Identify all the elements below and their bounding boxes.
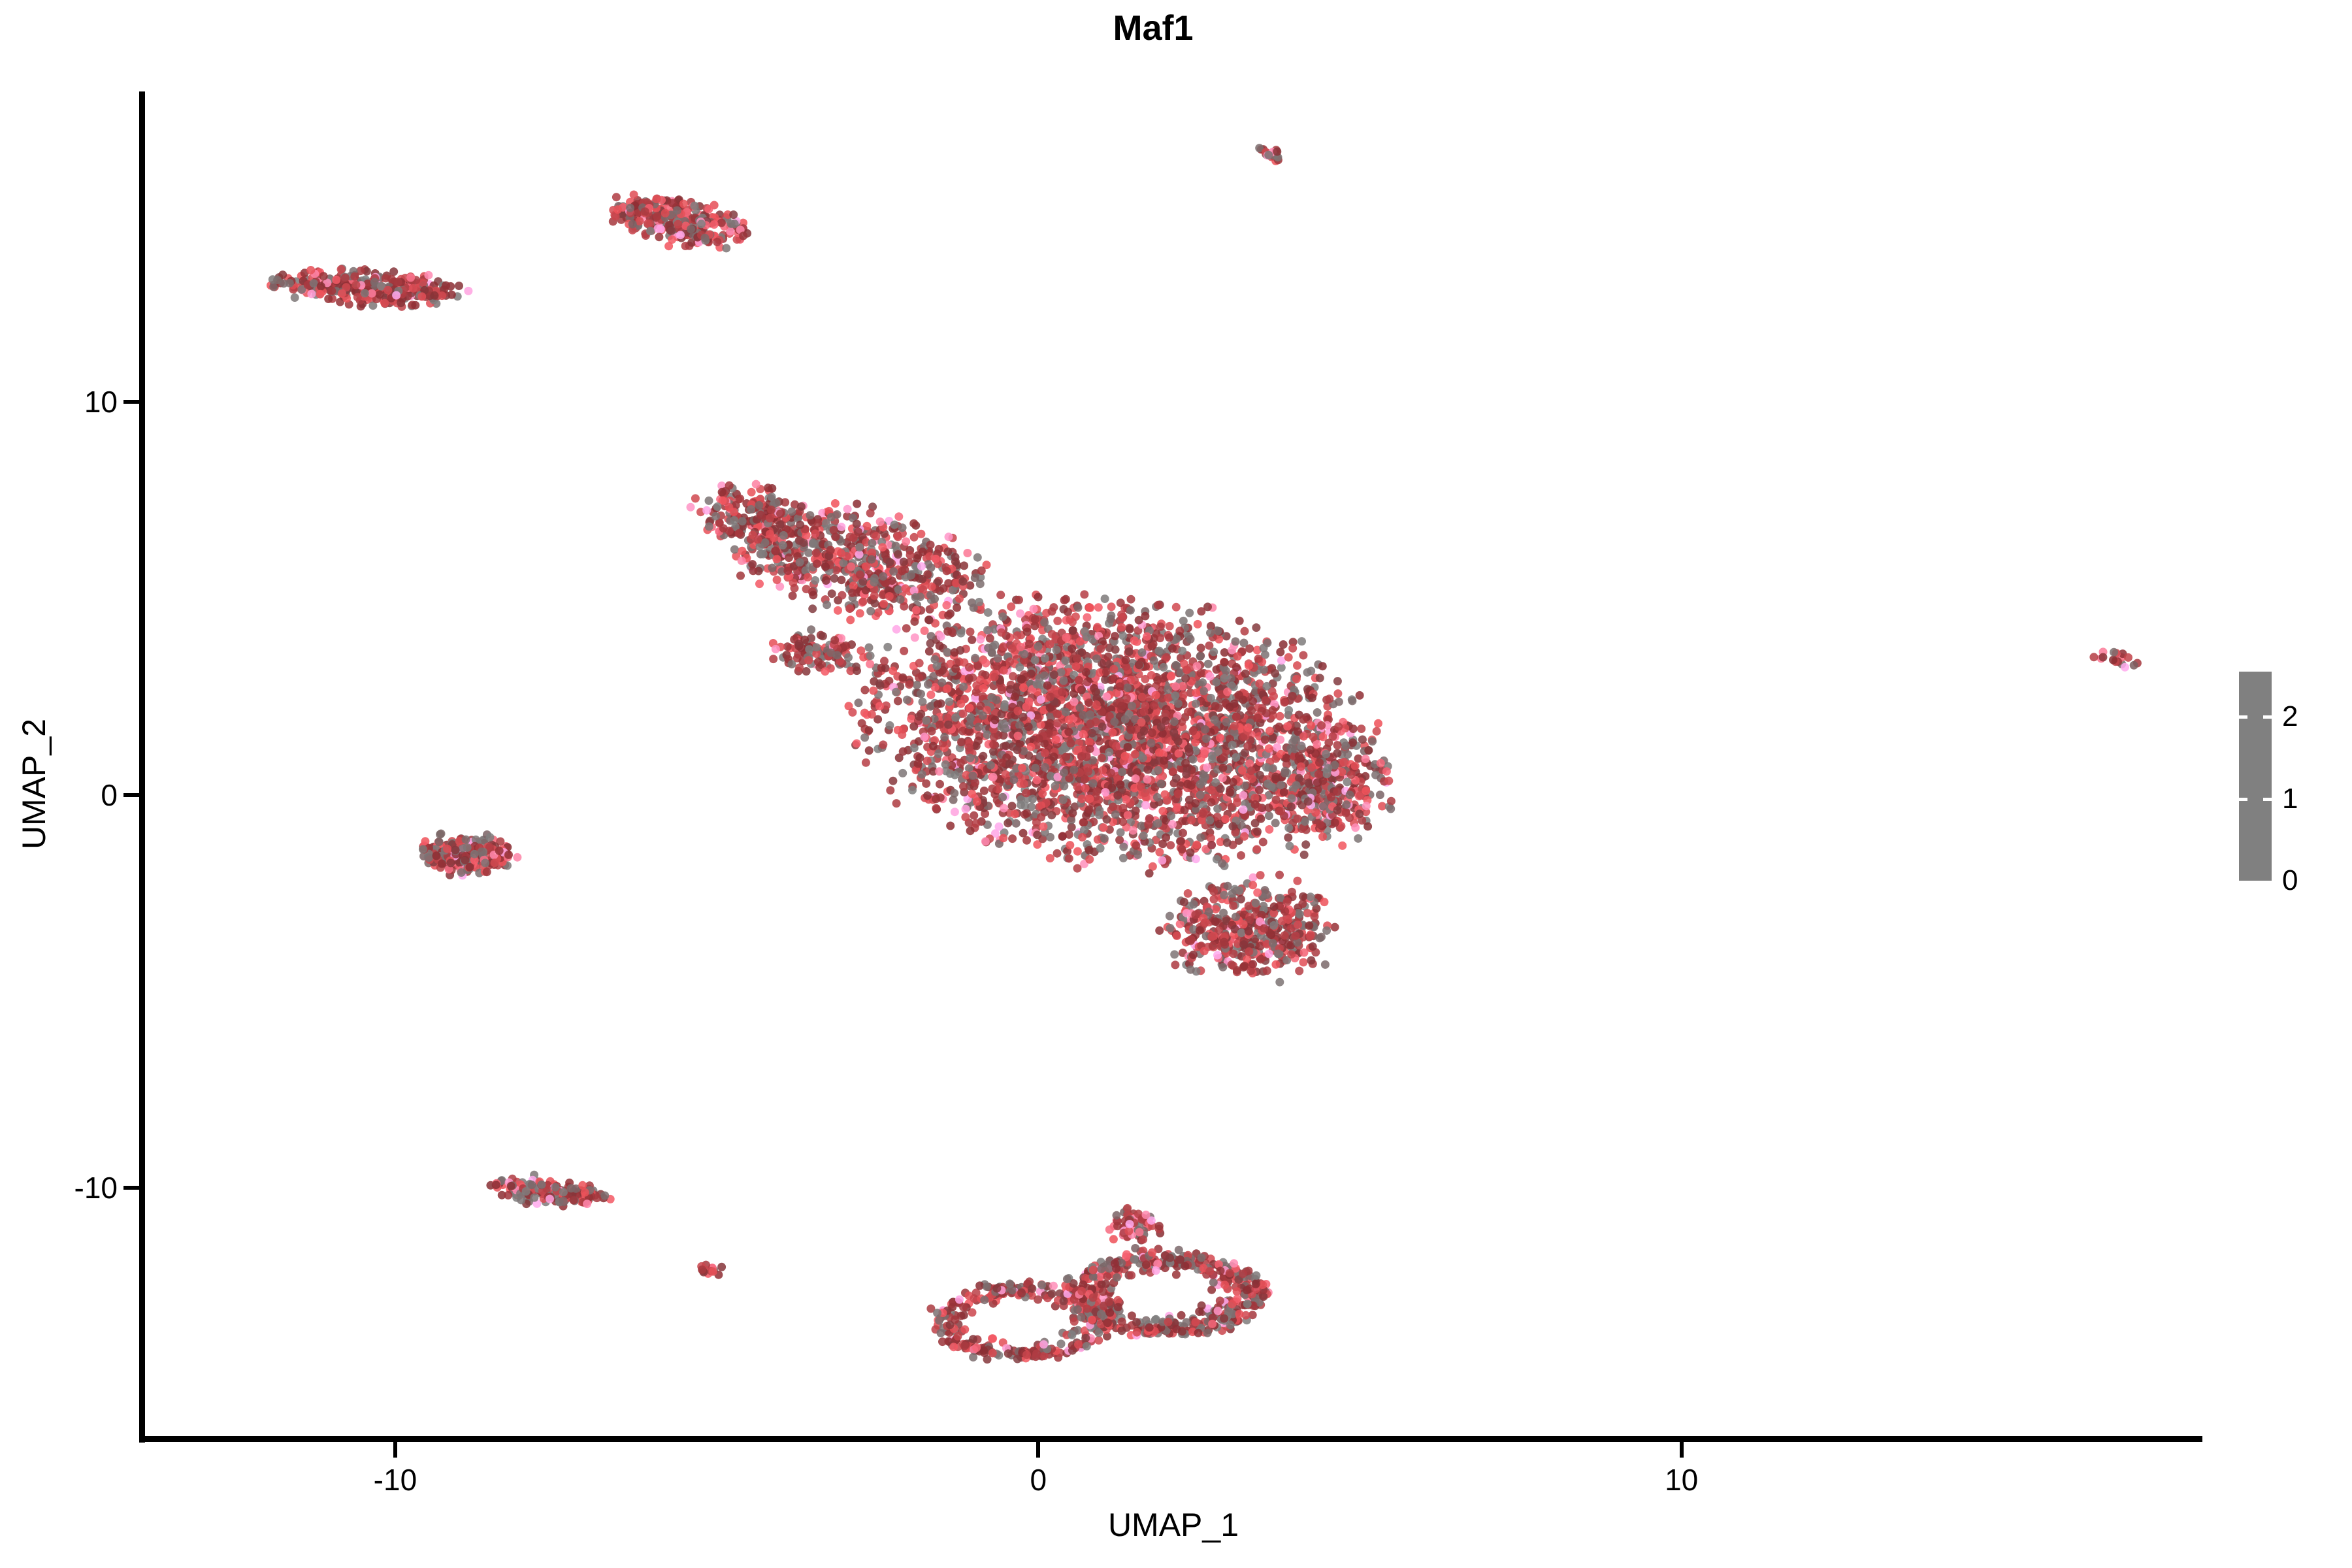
colorbar-tick-label: 2 [2282, 700, 2298, 733]
y-tick-mark [123, 793, 139, 797]
scatter-points-layer [144, 91, 2202, 1439]
colorbar-gradient [2239, 672, 2272, 881]
y-axis-line [139, 91, 145, 1443]
x-tick-mark [1036, 1442, 1040, 1458]
y-tick-label: 0 [101, 777, 118, 813]
page-title: Maf1 [0, 5, 2329, 51]
x-tick-mark [1680, 1442, 1684, 1458]
x-tick-label: 0 [1030, 1462, 1047, 1497]
x-tick-mark [393, 1442, 397, 1458]
colorbar-tick-mark [2263, 715, 2272, 719]
y-tick-label: 10 [84, 384, 118, 419]
colorbar-tick-mark [2263, 798, 2272, 801]
feature-plot-root: Maf1 100-10-10010 UMAP_1 UMAP_2 210 [0, 0, 2352, 1568]
scatter-panel [144, 91, 2202, 1439]
x-axis-line [139, 1436, 2202, 1442]
y-tick-mark [123, 1186, 139, 1190]
colorbar-tick-mark [2239, 715, 2247, 719]
expression-colorbar-legend[interactable]: 210 [2239, 672, 2337, 881]
colorbar-tick-mark [2239, 798, 2247, 801]
colorbar-tick-label: 0 [2282, 864, 2298, 897]
y-tick-mark [123, 400, 139, 404]
x-axis-title: UMAP_1 [144, 1506, 2202, 1544]
y-axis-title: UMAP_2 [15, 653, 53, 915]
colorbar-tick-label: 1 [2282, 783, 2298, 815]
x-tick-label: -10 [374, 1462, 417, 1497]
x-tick-label: 10 [1665, 1462, 1698, 1497]
y-tick-label: -10 [74, 1170, 118, 1205]
